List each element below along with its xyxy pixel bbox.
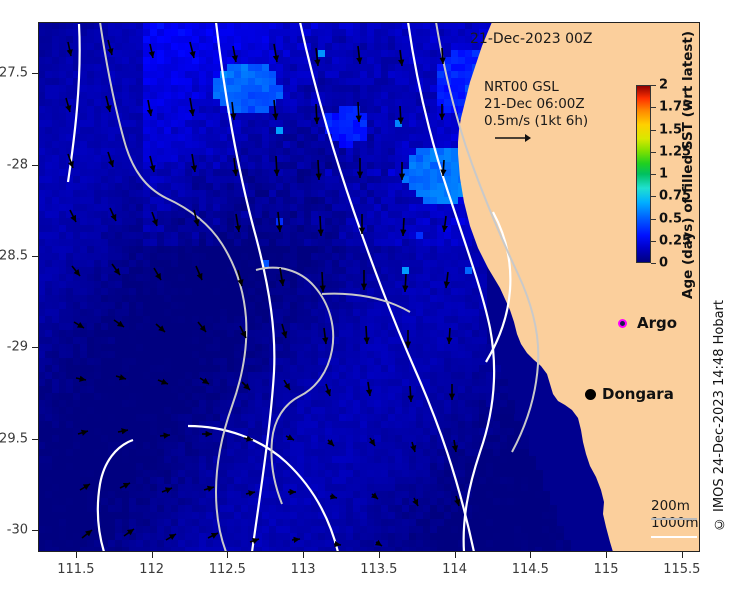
x-tick xyxy=(227,552,228,558)
x-tick xyxy=(530,552,531,558)
dongara-marker-icon xyxy=(585,389,596,400)
colorbar-title: Age (days) of filled SST (wrt latest) xyxy=(676,30,700,300)
x-tick-label: 115 xyxy=(594,562,619,577)
x-tick xyxy=(303,552,304,558)
colorbar-tick-label: 1 xyxy=(659,167,668,182)
argo-label: Argo xyxy=(637,314,677,332)
argo-legend-entry: Argo xyxy=(618,314,677,332)
velocity-scale-arrow-icon xyxy=(493,131,533,145)
y-tick xyxy=(32,73,38,74)
gsl-product-label: NRT00 GSL xyxy=(484,79,588,96)
x-tick xyxy=(606,552,607,558)
x-tick-label: 115.5 xyxy=(663,562,700,577)
gsl-scale-label: 0.5m/s (1kt 6h) xyxy=(484,113,588,130)
colorbar-tick xyxy=(651,130,656,131)
y-tick xyxy=(32,530,38,531)
surface-current-vectors xyxy=(38,22,700,552)
colorbar-tick xyxy=(651,219,656,220)
x-tick-label: 114.5 xyxy=(512,562,549,577)
y-tick-label: -28 xyxy=(7,157,28,172)
colorbar-tick xyxy=(651,241,656,242)
colorbar-tick-label: 2 xyxy=(659,78,668,93)
x-tick xyxy=(152,552,153,558)
gsl-annotation-block: NRT00 GSL 21-Dec 06:00Z 0.5m/s (1kt 6h) xyxy=(484,79,588,130)
y-tick xyxy=(32,165,38,166)
sst-age-map-figure: 21-Dec-2023 00Z NRT00 GSL 21-Dec 06:00Z … xyxy=(0,0,740,592)
bathymetry-legend: 200m 1000m xyxy=(651,498,699,532)
dongara-label: Dongara xyxy=(602,385,674,403)
x-tick xyxy=(76,552,77,558)
colorbar-tick xyxy=(651,85,656,86)
y-tick xyxy=(32,256,38,257)
colorbar-tick xyxy=(651,263,656,264)
x-tick xyxy=(379,552,380,558)
gsl-time-label: 21-Dec 06:00Z xyxy=(484,96,588,113)
x-tick-label: 112 xyxy=(139,562,164,577)
colorbar-tick-label: 0 xyxy=(659,256,668,271)
x-tick-label: 114 xyxy=(442,562,467,577)
date-stamp: 21-Dec-2023 00Z xyxy=(470,31,593,47)
dongara-place-marker: Dongara xyxy=(585,385,674,403)
colorbar-gradient xyxy=(636,85,651,263)
y-tick-label: 29.5 xyxy=(0,431,28,446)
x-tick-label: 113 xyxy=(291,562,316,577)
x-tick-label: 113.5 xyxy=(360,562,397,577)
y-tick xyxy=(32,439,38,440)
credit-text: © IMOS 24-Dec-2023 14:48 Hobart xyxy=(712,300,727,531)
bathy-1000m-swatch xyxy=(651,536,697,538)
x-tick xyxy=(455,552,456,558)
x-tick xyxy=(682,552,683,558)
y-tick-label: 27.5 xyxy=(0,66,28,81)
colorbar-tick xyxy=(651,107,656,108)
x-tick-label: 112.5 xyxy=(209,562,246,577)
colorbar-tick xyxy=(651,152,656,153)
colorbar-tick xyxy=(651,196,656,197)
bathy-200m-swatch xyxy=(651,518,697,520)
y-tick-label: -29 xyxy=(7,340,28,355)
bathy-200m-label: 200m xyxy=(651,498,699,515)
y-tick xyxy=(32,347,38,348)
argo-marker-icon xyxy=(618,319,627,328)
map-plot-area xyxy=(38,22,700,552)
x-tick-label: 111.5 xyxy=(57,562,94,577)
colorbar-tick xyxy=(651,174,656,175)
y-tick-label: 28.5 xyxy=(0,248,28,263)
y-tick-label: -30 xyxy=(7,523,28,538)
